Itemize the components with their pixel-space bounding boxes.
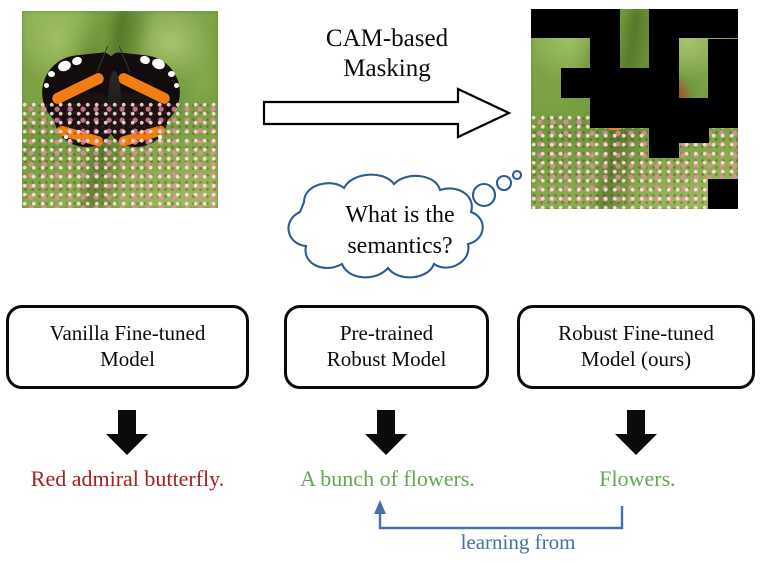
figure-canvas: CAM-based Masking What is the semantics?… (0, 0, 762, 563)
block-arrow-right-icon (262, 86, 512, 145)
model-box-vanilla-fine-tuned[interactable]: Vanilla Fine-tuned Model (6, 305, 249, 389)
masked-image (531, 9, 738, 209)
model-box-pre-trained-robust[interactable]: Pre-trained Robust Model (284, 305, 489, 389)
model-box-ours-line2: Model (ours) (558, 347, 714, 373)
butterfly-white-spot (48, 71, 55, 77)
process-label-line1: CAM-based (262, 24, 512, 54)
mask-tile (590, 9, 620, 68)
process-label: CAM-based Masking (262, 24, 512, 84)
mask-tile (708, 179, 738, 209)
butterfly-white-spot (168, 71, 175, 77)
thought-bubble-line2: semantics? (300, 231, 500, 262)
model-box-ours-line1: Robust Fine-tuned (558, 321, 714, 347)
down-arrow-icon-vanilla (105, 410, 149, 461)
model-box-robust-fine-tuned[interactable]: Robust Fine-tuned Model (ours) (517, 305, 755, 389)
butterfly-white-spot (174, 83, 179, 88)
original-image (22, 11, 218, 208)
learning-from-label: learning from (398, 530, 638, 555)
mask-tile (531, 9, 590, 38)
mask-tile (708, 68, 738, 98)
mask-tile (679, 9, 738, 38)
mask-tile (708, 39, 738, 68)
down-arrow-icon-pretrained (364, 410, 408, 461)
mask-tile (649, 128, 679, 158)
output-caption-pretrained: A bunch of flowers. (270, 466, 505, 492)
model-box-vanilla-line1: Vanilla Fine-tuned (50, 321, 206, 347)
mask-tile (679, 128, 709, 143)
sedum-florets-texture (22, 102, 218, 208)
model-box-pretrained-line2: Robust Model (327, 347, 447, 373)
down-arrow-icon-ours (614, 410, 658, 461)
thought-bubble-line1: What is the (300, 200, 500, 231)
mask-tile (649, 9, 679, 39)
output-caption-ours: Flowers. (530, 466, 745, 492)
model-box-pretrained-line1: Pre-trained (327, 321, 447, 347)
butterfly-white-spot (44, 83, 49, 88)
process-label-line2: Masking (262, 54, 512, 84)
thought-bubble-text: What is the semantics? (300, 200, 500, 261)
mask-tile (561, 68, 679, 98)
model-box-vanilla-line2: Model (50, 347, 206, 373)
mask-tile (590, 98, 738, 128)
output-caption-vanilla: Red admiral butterfly. (0, 466, 255, 492)
